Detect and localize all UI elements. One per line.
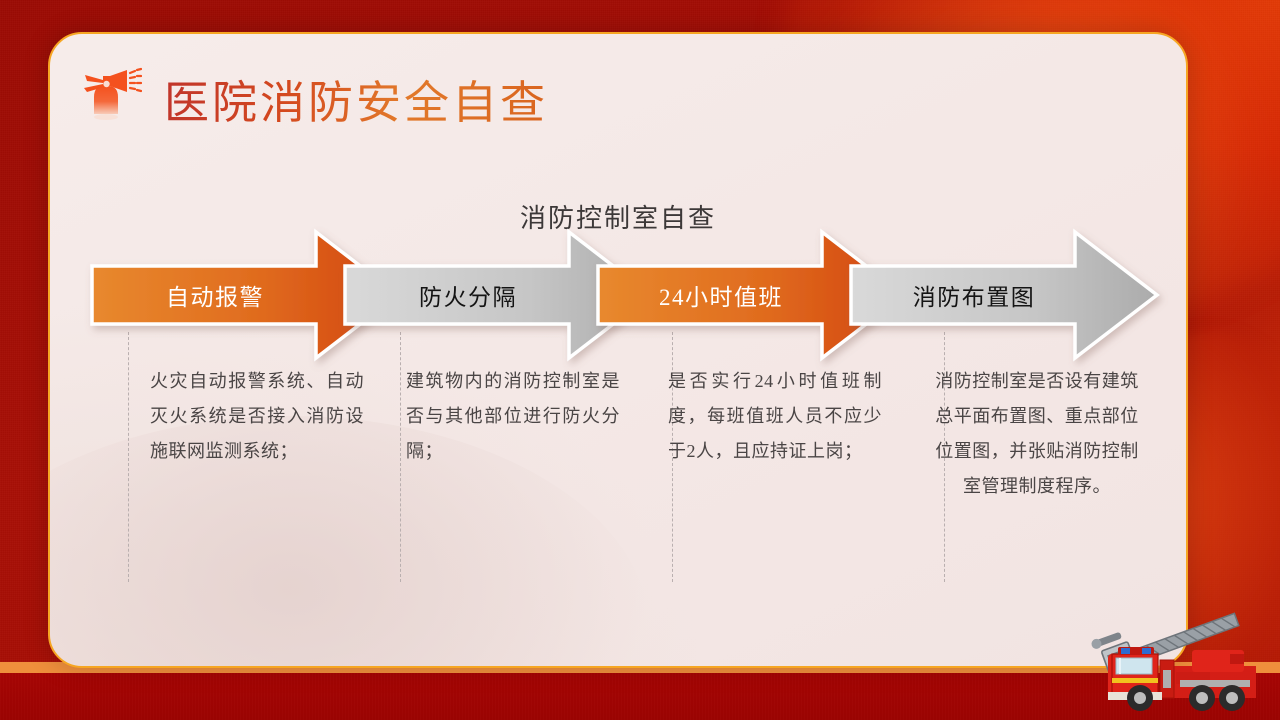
process-arrow-row: 自动报警 防火分隔 — [90, 230, 1150, 360]
fire-truck-icon — [1080, 592, 1270, 718]
content-card: 医院消防安全自查 消防控制室自查 — [48, 32, 1188, 668]
slide-root: 医院消防安全自查 消防控制室自查 — [0, 0, 1280, 720]
page-title: 医院消防安全自查 — [164, 66, 548, 131]
step-description-2: 建筑物内的消防控制室是否与其他部位进行防火分隔； — [382, 364, 644, 504]
title-row: 医院消防安全自查 — [78, 66, 548, 131]
step-description-row: 火灾自动报警系统、自动灭火系统是否接入消防设施联网监测系统； 建筑物内的消防控制… — [120, 364, 1170, 504]
process-step-4[interactable]: 消防布置图 — [849, 230, 1159, 360]
step-description-4: 消防控制室是否设有建筑总平面布置图、重点部位位置图，并张贴消防控制室管理制度程序… — [906, 364, 1168, 504]
fire-extinguisher-icon — [78, 67, 142, 131]
step-description-3: 是否实行24小时值班制度，每班值班人员不应少于2人，且应持证上岗； — [644, 364, 906, 504]
step-description-1: 火灾自动报警系统、自动灭火系统是否接入消防设施联网监测系统； — [120, 364, 382, 504]
